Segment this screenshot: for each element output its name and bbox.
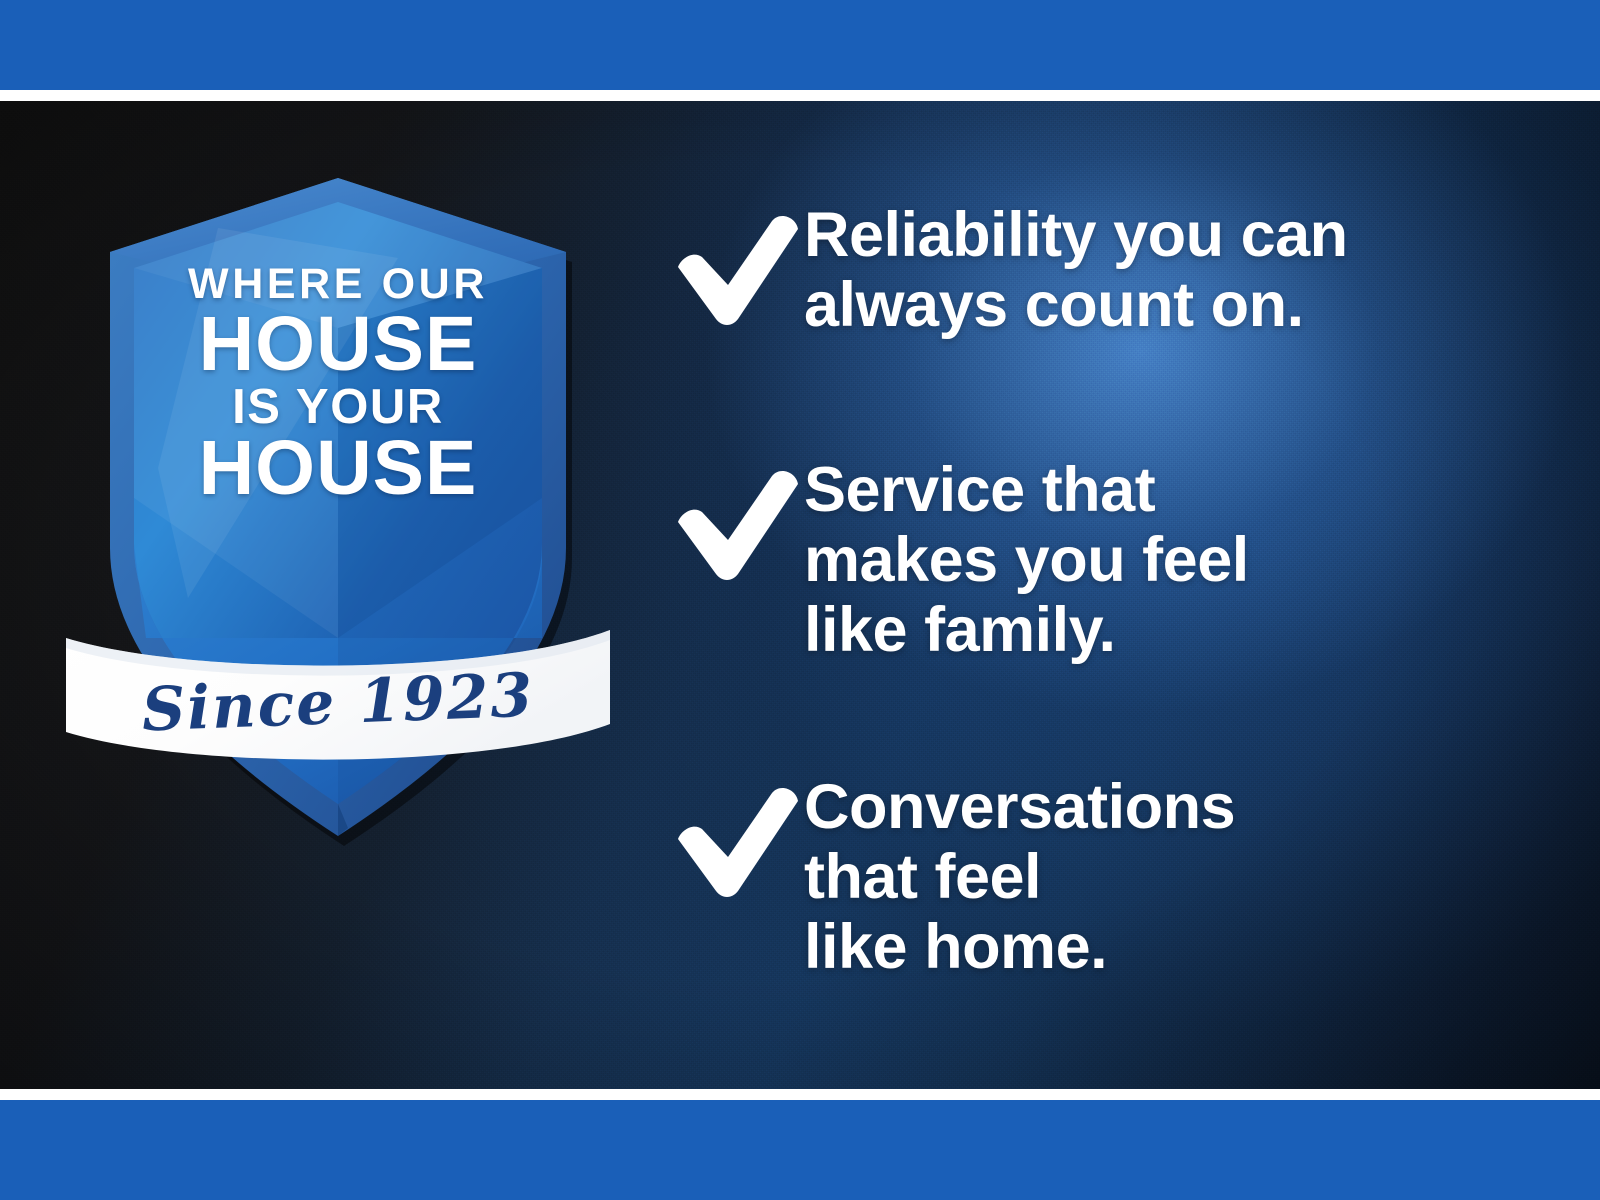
list-item-text: Conversations that feel like home. [804,773,1235,983]
shield-badge-logo: WHERE OUR HOUSE IS YOUR HOUSE Since 1923 [68,168,608,848]
logo-tagline: WHERE OUR HOUSE IS YOUR HOUSE [68,264,608,506]
checkmark-icon [672,207,804,327]
promo-graphic: WHERE OUR HOUSE IS YOUR HOUSE Since 1923… [0,0,1600,1200]
checkmark-icon [672,462,804,582]
logo-line-4: HOUSE [68,432,608,506]
list-item-text: Reliability you can always count on. [804,201,1348,341]
checkmark-icon [672,779,804,899]
top-divider-rule [0,90,1600,101]
bottom-brand-bar [0,1100,1600,1200]
list-item: Service that makes you feel like family. [672,456,1249,666]
bottom-divider-rule [0,1089,1600,1100]
logo-line-2: HOUSE [68,308,608,382]
logo-line-1: WHERE OUR [68,264,608,305]
list-item-text: Service that makes you feel like family. [804,456,1249,666]
logo-line-3: IS YOUR [68,384,608,431]
list-item: Conversations that feel like home. [672,773,1235,983]
value-proposition-list: Reliability you can always count on. Ser… [672,101,1532,1089]
list-item: Reliability you can always count on. [672,201,1348,341]
top-brand-bar [0,0,1600,90]
